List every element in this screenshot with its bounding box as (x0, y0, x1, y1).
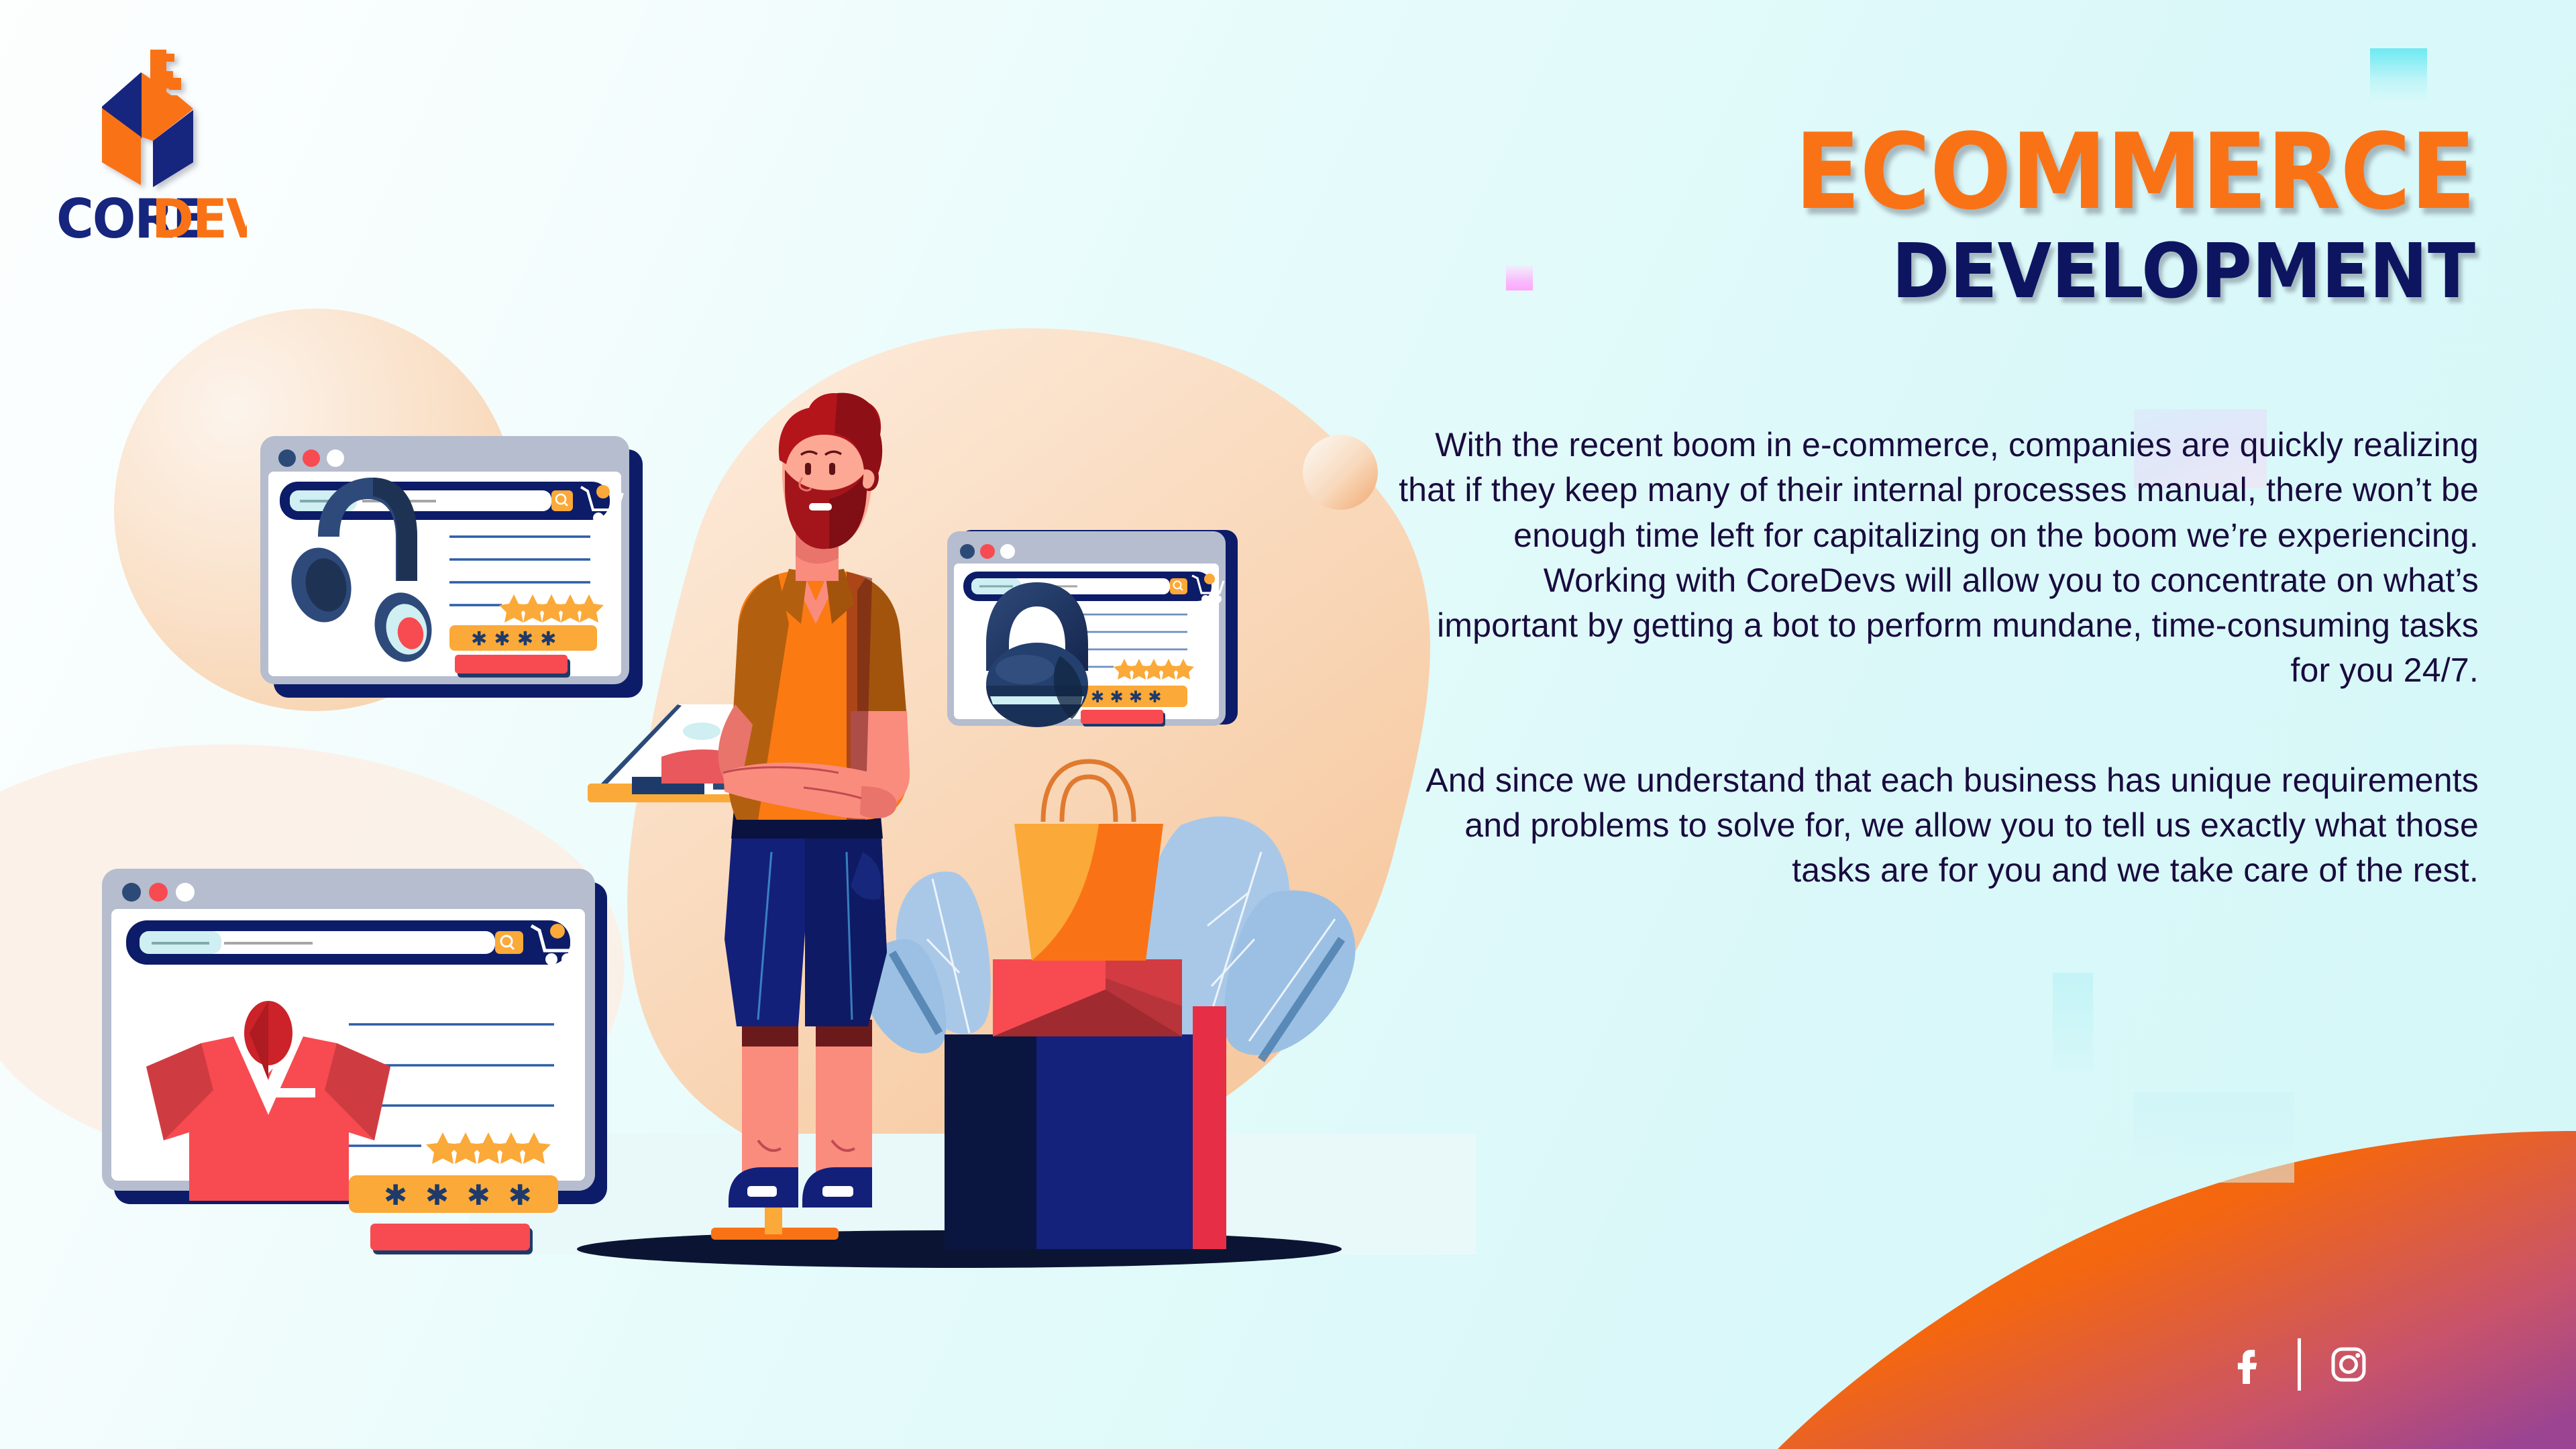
facebook-link[interactable] (2231, 1345, 2269, 1384)
page-title: ECOMMERCE (1371, 121, 2475, 223)
paragraph-1: With the recent boom in e-commerce, comp… (1395, 423, 2479, 694)
social-separator (2298, 1338, 2301, 1391)
paragraph-2: And since we understand that each busine… (1395, 758, 2479, 894)
decor-circle-peach (1303, 435, 1378, 510)
social-links (2231, 1338, 2368, 1391)
logo-word-devs: DEVS (152, 188, 247, 244)
page-subtitle: DEVELOPMENT (1358, 234, 2475, 309)
cube-logo-icon: CORE DEVS (32, 23, 247, 244)
instagram-icon[interactable] (2329, 1345, 2368, 1384)
body-copy: With the recent boom in e-commerce, comp… (1395, 423, 2479, 893)
poster-canvas: CORE DEVS ECOMMERCE DEVELOPMENT With the… (0, 0, 2576, 1449)
header-block: ECOMMERCE DEVELOPMENT (1275, 121, 2475, 309)
facebook-icon[interactable] (2231, 1345, 2269, 1384)
decor-rect-cyan-lower (2133, 1092, 2294, 1183)
decor-rect-cyan-mid (2053, 973, 2093, 1073)
peach-wash-left (0, 745, 624, 1168)
instagram-link[interactable] (2329, 1345, 2368, 1384)
peach-circle-left (114, 309, 517, 711)
brand-logo[interactable]: CORE DEVS (32, 23, 247, 244)
decor-square-cyan (2370, 48, 2427, 102)
floor-band (470, 1134, 1476, 1254)
